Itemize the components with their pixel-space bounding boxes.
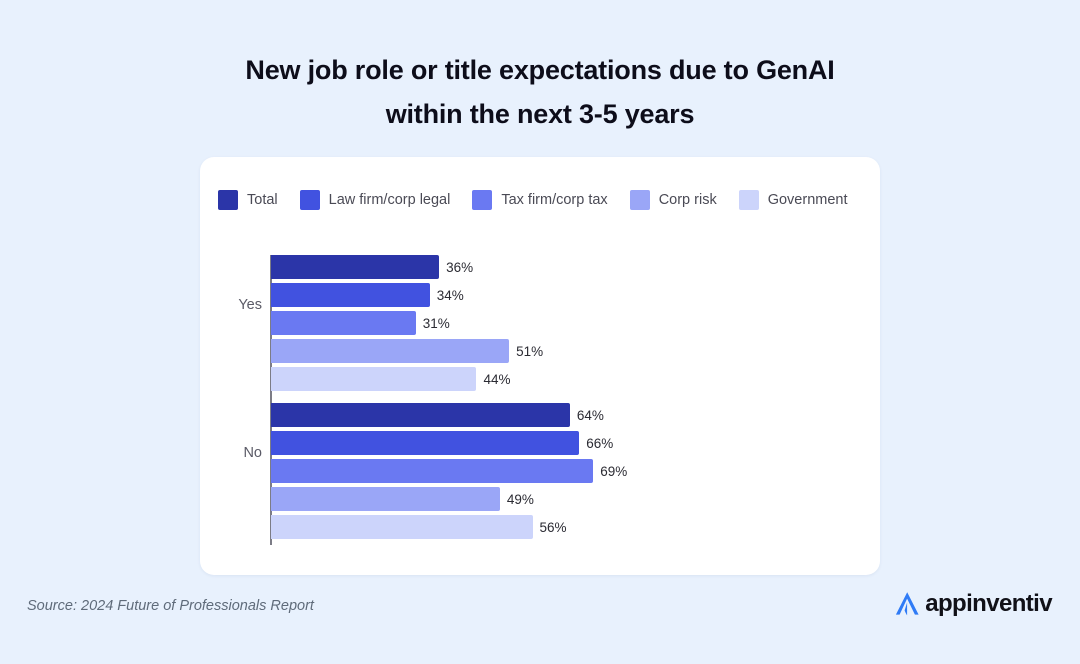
bar[interactable] bbox=[271, 403, 570, 427]
legend-item-label: Law firm/corp legal bbox=[329, 192, 451, 208]
bars-no: 64%66%69%49%56% bbox=[271, 403, 627, 539]
bar-value-label: 36% bbox=[446, 260, 473, 275]
bar-value-label: 49% bbox=[507, 492, 534, 507]
bar-row: 34% bbox=[271, 283, 543, 307]
legend-item[interactable]: Law firm/corp legal bbox=[300, 190, 451, 210]
bar-row: 56% bbox=[271, 515, 627, 539]
bar-row: 51% bbox=[271, 339, 543, 363]
bar-value-label: 56% bbox=[540, 520, 567, 535]
legend-item[interactable]: Total bbox=[218, 190, 278, 210]
bar-row: 31% bbox=[271, 311, 543, 335]
bar-row: 44% bbox=[271, 367, 543, 391]
bar[interactable] bbox=[271, 459, 593, 483]
bar[interactable] bbox=[271, 311, 416, 335]
legend-swatch-icon bbox=[300, 190, 320, 210]
legend-item-label: Corp risk bbox=[659, 192, 717, 208]
source-note: Source: 2024 Future of Professionals Rep… bbox=[27, 598, 314, 614]
bar-row: 36% bbox=[271, 255, 543, 279]
legend-item[interactable]: Tax firm/corp tax bbox=[472, 190, 607, 210]
bar-value-label: 34% bbox=[437, 288, 464, 303]
chart-legend: TotalLaw firm/corp legalTax firm/corp ta… bbox=[218, 190, 872, 210]
legend-swatch-icon bbox=[739, 190, 759, 210]
brand-logo: appinventiv bbox=[891, 588, 1052, 620]
legend-swatch-icon bbox=[218, 190, 238, 210]
bar-row: 64% bbox=[271, 403, 627, 427]
bar-row: 49% bbox=[271, 487, 627, 511]
bar-value-label: 31% bbox=[423, 316, 450, 331]
chart-card: TotalLaw firm/corp legalTax firm/corp ta… bbox=[200, 157, 880, 575]
bar-value-label: 44% bbox=[483, 372, 510, 387]
legend-item[interactable]: Government bbox=[739, 190, 848, 210]
category-label-yes: Yes bbox=[200, 297, 262, 313]
category-label-no: No bbox=[200, 445, 262, 461]
chart-page: New job role or title expectations due t… bbox=[0, 0, 1080, 664]
legend-swatch-icon bbox=[472, 190, 492, 210]
chart-plot-area: Yes No 36%34%31%51%44% 64%66%69%49%56% bbox=[200, 237, 880, 567]
bar-row: 69% bbox=[271, 459, 627, 483]
legend-item[interactable]: Corp risk bbox=[630, 190, 717, 210]
page-footer: Source: 2024 Future of Professionals Rep… bbox=[0, 580, 1080, 664]
brand-logo-text: appinventiv bbox=[925, 590, 1052, 618]
bar[interactable] bbox=[271, 431, 579, 455]
page-title-line-2: within the next 3-5 years bbox=[120, 92, 960, 136]
appinventiv-a-mark-icon bbox=[891, 588, 923, 620]
bars-yes: 36%34%31%51%44% bbox=[271, 255, 543, 391]
legend-swatch-icon bbox=[630, 190, 650, 210]
bar-value-label: 66% bbox=[586, 436, 613, 451]
bar[interactable] bbox=[271, 515, 533, 539]
bar[interactable] bbox=[271, 339, 509, 363]
bar-row: 66% bbox=[271, 431, 627, 455]
bar-value-label: 69% bbox=[600, 464, 627, 479]
legend-item-label: Government bbox=[768, 192, 848, 208]
legend-item-label: Total bbox=[247, 192, 278, 208]
bar[interactable] bbox=[271, 367, 476, 391]
page-title-line-1: New job role or title expectations due t… bbox=[120, 48, 960, 92]
page-title: New job role or title expectations due t… bbox=[0, 48, 1080, 136]
bar[interactable] bbox=[271, 283, 430, 307]
bar-value-label: 64% bbox=[577, 408, 604, 423]
bar[interactable] bbox=[271, 487, 500, 511]
bar-value-label: 51% bbox=[516, 344, 543, 359]
legend-item-label: Tax firm/corp tax bbox=[501, 192, 607, 208]
bar[interactable] bbox=[271, 255, 439, 279]
